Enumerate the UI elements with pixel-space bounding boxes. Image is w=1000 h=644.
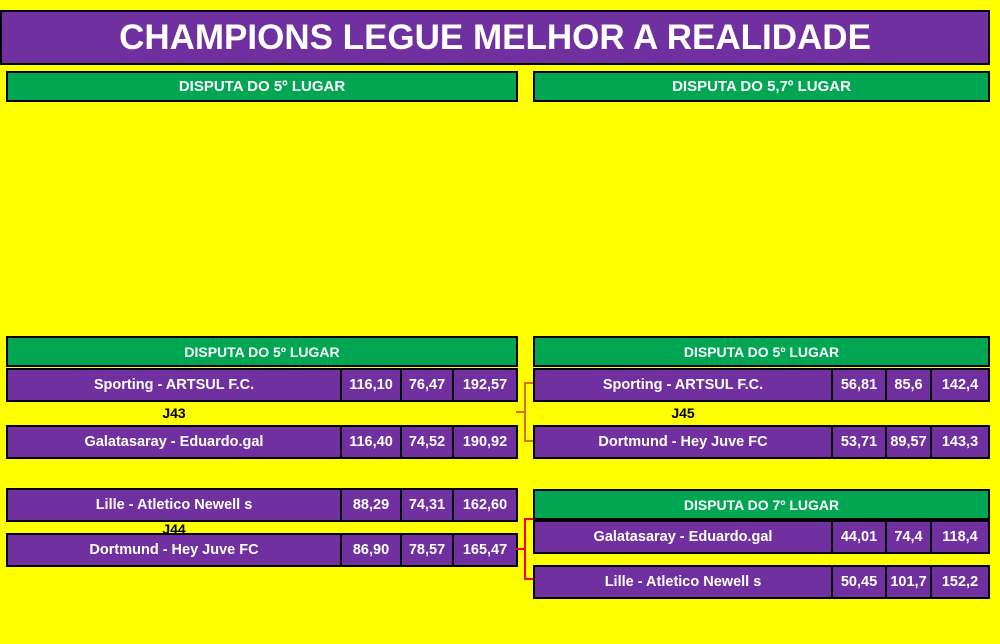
left-top-match-header-label: DISPUTA DO 5º LUGAR <box>184 344 339 360</box>
total-cell: 118,4 <box>930 520 990 554</box>
section-header-right-label: DISPUTA DO 5,7º LUGAR <box>672 78 851 95</box>
total-cell: 162,60 <box>452 488 518 522</box>
team-name-cell: Galatasaray - Eduardo.gal <box>6 425 342 459</box>
right-bottom-match-header-label: DISPUTA DO 7º LUGAR <box>684 497 839 513</box>
team-name-cell: Dortmund - Hey Juve FC <box>533 425 833 459</box>
score-cell-2: 89,57 <box>885 425 932 459</box>
score-cell-2: 74,4 <box>885 520 932 554</box>
total-cell: 192,57 <box>452 368 518 402</box>
round-label-j45: J45 <box>533 405 833 421</box>
total-cell: 142,4 <box>930 368 990 402</box>
score-cell-2: 76,47 <box>400 368 454 402</box>
team-name-cell: Galatasaray - Eduardo.gal <box>533 520 833 554</box>
score-cell-1: 116,10 <box>340 368 402 402</box>
score-cell-2: 78,57 <box>400 533 454 567</box>
team-name-cell: Lille - Atletico Newell s <box>6 488 342 522</box>
score-cell-1: 50,45 <box>831 565 887 599</box>
table-row: Sporting - ARTSUL F.C. 116,10 76,47 192,… <box>6 368 518 402</box>
total-cell: 165,47 <box>452 533 518 567</box>
score-cell-1: 56,81 <box>831 368 887 402</box>
score-cell-1: 44,01 <box>831 520 887 554</box>
total-cell: 190,92 <box>452 425 518 459</box>
right-top-match-header-label: DISPUTA DO 5º LUGAR <box>684 344 839 360</box>
score-cell-1: 88,29 <box>340 488 402 522</box>
score-cell-1: 53,71 <box>831 425 887 459</box>
left-top-match-header: DISPUTA DO 5º LUGAR <box>6 336 518 367</box>
score-cell-2: 85,6 <box>885 368 932 402</box>
team-name-cell: Dortmund - Hey Juve FC <box>6 533 342 567</box>
bracket-sheet: CHAMPIONS LEGUE MELHOR A REALIDADE DISPU… <box>0 0 1000 644</box>
page-title: CHAMPIONS LEGUE MELHOR A REALIDADE <box>119 20 871 55</box>
section-header-left-label: DISPUTA DO 5º LUGAR <box>179 78 345 95</box>
right-top-match-header: DISPUTA DO 5º LUGAR <box>533 336 990 367</box>
team-name-cell: Sporting - ARTSUL F.C. <box>533 368 833 402</box>
score-cell-2: 74,52 <box>400 425 454 459</box>
table-row: Galatasaray - Eduardo.gal 116,40 74,52 1… <box>6 425 518 459</box>
team-name-cell: Lille - Atletico Newell s <box>533 565 833 599</box>
score-cell-2: 101,7 <box>885 565 932 599</box>
right-bottom-match-header: DISPUTA DO 7º LUGAR <box>533 489 990 520</box>
table-row: Dortmund - Hey Juve FC 53,71 89,57 143,3 <box>533 425 990 459</box>
table-row: Sporting - ARTSUL F.C. 56,81 85,6 142,4 <box>533 368 990 402</box>
total-cell: 143,3 <box>930 425 990 459</box>
section-header-left: DISPUTA DO 5º LUGAR <box>6 71 518 102</box>
table-row: Lille - Atletico Newell s 50,45 101,7 15… <box>533 565 990 599</box>
table-row: Lille - Atletico Newell s 88,29 74,31 16… <box>6 488 518 522</box>
table-row: Galatasaray - Eduardo.gal 44,01 74,4 118… <box>533 520 990 554</box>
team-name-cell: Sporting - ARTSUL F.C. <box>6 368 342 402</box>
score-cell-2: 74,31 <box>400 488 454 522</box>
table-row: Dortmund - Hey Juve FC 86,90 78,57 165,4… <box>6 533 518 567</box>
round-label-j43: J43 <box>6 405 342 421</box>
score-cell-1: 116,40 <box>340 425 402 459</box>
page-title-banner: CHAMPIONS LEGUE MELHOR A REALIDADE <box>0 10 990 65</box>
score-cell-1: 86,90 <box>340 533 402 567</box>
total-cell: 152,2 <box>930 565 990 599</box>
section-header-right: DISPUTA DO 5,7º LUGAR <box>533 71 990 102</box>
